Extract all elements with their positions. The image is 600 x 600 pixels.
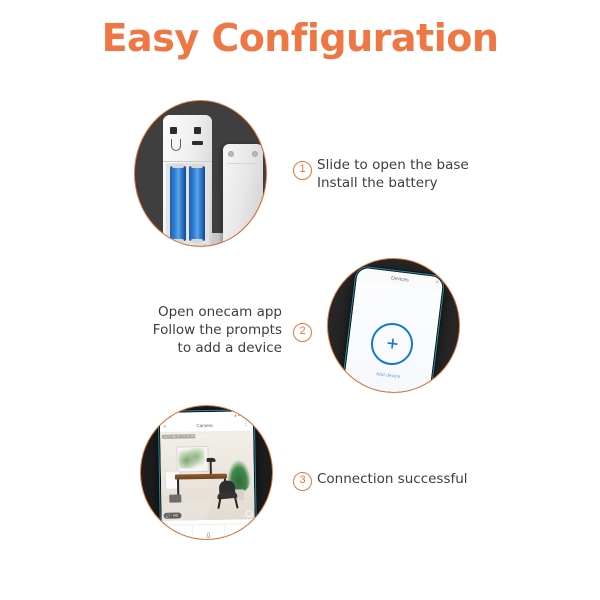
status-time: 14:02	[163, 415, 172, 419]
microphone-icon	[205, 532, 212, 539]
step-2-caption-line-1: Open onecam app	[120, 303, 282, 321]
camera-body	[163, 115, 212, 246]
usb-port-icon	[192, 141, 203, 145]
live-view-toolbar: Screenshot Intercom	[162, 523, 255, 539]
phone-device-add: Devices + Add device	[337, 264, 447, 392]
speaker-icon[interactable]: 🔊	[166, 513, 171, 518]
record-icon	[236, 531, 243, 538]
step-2-caption-line-3: to add a device	[120, 339, 282, 357]
battery-bay	[166, 163, 209, 244]
step-2-caption-line-2: Follow the prompts	[120, 321, 282, 339]
phone-screen-live-view: 14:02 ◌ ▴ ▪ ⚡ ▮ ‹ Camera ⋮	[160, 411, 255, 539]
step-1-illustration	[135, 101, 266, 246]
camera-lens-left-icon	[170, 127, 177, 134]
quality-badge[interactable]: HD	[172, 513, 180, 517]
add-device-content: Add device	[341, 280, 442, 392]
battery-left	[170, 166, 186, 241]
battery-right	[189, 166, 205, 241]
app-bar-plus-icon[interactable]: +	[435, 281, 439, 286]
status-icons: ◌ ▴ ▪ ⚡ ▮	[231, 413, 250, 417]
chevron-left-icon[interactable]: ‹	[164, 423, 166, 429]
step-3-caption: Connection successful	[317, 470, 468, 488]
add-device-button[interactable]	[369, 320, 416, 367]
toolbar-record-button[interactable]: Record	[224, 524, 255, 539]
fullscreen-icon[interactable]	[246, 510, 253, 517]
step-1-caption-line-1: Slide to open the base	[317, 156, 469, 174]
battery-cover-plate	[223, 144, 263, 246]
step-2-photo: Devices + Add device	[327, 258, 460, 393]
toolbar-screenshot-button[interactable]: Screenshot	[162, 525, 194, 539]
step-3-illustration: 14:02 ◌ ▴ ▪ ⚡ ▮ ‹ Camera ⋮	[141, 406, 272, 539]
cover-screw-left-icon	[228, 151, 234, 157]
add-device-label: Add device	[376, 371, 401, 380]
reset-hole-icon	[171, 139, 181, 151]
toolbar-intercom-button[interactable]: Intercom	[193, 525, 225, 539]
wall-greenery	[178, 448, 204, 468]
more-vertical-icon[interactable]: ⋮	[243, 422, 249, 427]
nav-title: Camera	[196, 423, 212, 428]
cover-seam	[227, 163, 259, 164]
step-3-photo: 14:02 ◌ ▴ ▪ ⚡ ▮ ‹ Camera ⋮	[140, 405, 273, 540]
step-3-number: 3	[293, 472, 312, 491]
floor-box	[169, 494, 181, 502]
live-video-feed[interactable]: 2024-08-07 13:42:02 🔊 HD	[160, 431, 255, 521]
phone-live-view: 14:02 ◌ ▴ ▪ ⚡ ▮ ‹ Camera ⋮	[157, 408, 259, 539]
phone-screen-add-device: Devices + Add device	[341, 267, 444, 392]
quality-control[interactable]: 🔊 HD	[164, 512, 182, 518]
step-1-number: 1	[293, 161, 312, 180]
step-1-caption: Slide to open the base Install the batte…	[317, 156, 469, 192]
camera-head	[163, 115, 212, 162]
desk-lamp-pole	[210, 460, 212, 475]
step-2-number: 2	[293, 323, 312, 342]
plus-icon	[384, 335, 401, 352]
step-3-caption-line-1: Connection successful	[317, 470, 468, 488]
desk-top	[175, 474, 227, 480]
step-2-illustration: Devices + Add device	[328, 259, 459, 392]
video-timestamp: 2024-08-07 13:42:02	[162, 434, 196, 439]
cover-screw-right-icon	[252, 151, 258, 157]
camera-lens-right-icon	[194, 127, 201, 134]
app-bar-title: Devices	[391, 275, 409, 283]
step-2-caption: Open onecam app Follow the prompts to ad…	[120, 303, 282, 357]
step-1-caption-line-2: Install the battery	[317, 174, 469, 192]
screenshot-icon	[174, 532, 181, 539]
step-1-photo	[134, 100, 267, 247]
page-title: Easy Configuration	[0, 16, 600, 60]
